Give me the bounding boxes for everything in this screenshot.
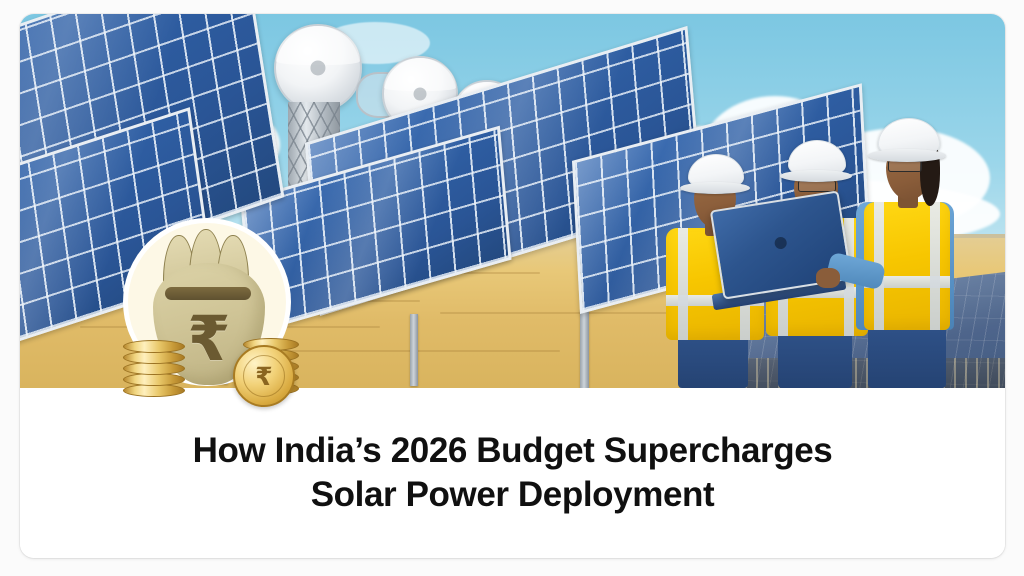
satellite-dish-icon [274, 24, 362, 112]
page-title-line-1: How India’s 2026 Budget Supercharges [193, 429, 833, 473]
worker-right [842, 92, 970, 388]
page-title: How India’s 2026 Budget Supercharges Sol… [193, 429, 833, 517]
money-bag-badge: ₹ ₹ [105, 217, 310, 417]
hard-hat-brim [868, 149, 946, 162]
rupee-coin-symbol: ₹ [243, 355, 285, 397]
solar-engineers [638, 80, 968, 388]
rupee-coin-icon: ₹ [233, 345, 295, 407]
page-root: ₹ ₹ How India’s 2026 Budget Supercharges… [0, 0, 1024, 576]
panel-strut [410, 314, 418, 386]
panel-strut [580, 310, 589, 388]
bag-tie [165, 287, 251, 300]
hard-hat-brim [680, 182, 750, 194]
article-card: ₹ ₹ How India’s 2026 Budget Supercharges… [20, 14, 1005, 558]
worker-hand [816, 268, 840, 288]
page-title-line-2: Solar Power Deployment [193, 473, 833, 517]
